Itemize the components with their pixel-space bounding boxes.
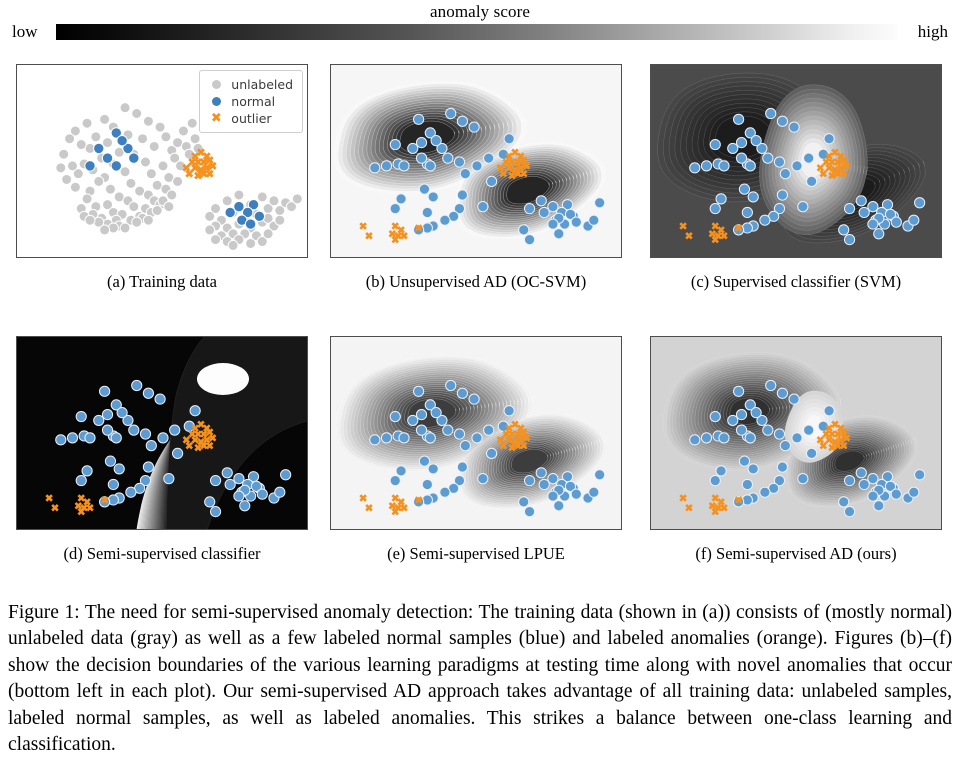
panel-c-plot [651, 65, 941, 257]
panel-b-contours [331, 65, 621, 257]
data-point [143, 388, 153, 398]
data-point [399, 433, 409, 443]
data-point [422, 479, 432, 489]
data-point [739, 456, 749, 466]
data-point [431, 408, 441, 418]
data-point [263, 229, 273, 239]
data-point [469, 122, 479, 132]
data-point [103, 138, 113, 148]
data-point [874, 501, 884, 511]
data-point [789, 394, 799, 404]
data-point [909, 215, 919, 225]
data-point [187, 118, 197, 128]
data-point [728, 143, 738, 153]
data-point [595, 470, 605, 480]
data-point [390, 475, 400, 485]
data-point [152, 206, 162, 216]
data-point [839, 225, 849, 235]
data-point [457, 388, 467, 398]
data-point [170, 425, 180, 435]
data-point [780, 169, 790, 179]
data-point [100, 386, 110, 396]
data-point [548, 202, 558, 212]
data-point [205, 211, 215, 221]
data-point [748, 464, 758, 474]
data-point [792, 161, 802, 171]
data-point [548, 219, 558, 229]
legend-item-outlier: ✖ outlier [207, 110, 293, 127]
data-point [234, 474, 244, 484]
colorbar: anomaly score low high [0, 0, 960, 52]
data-point [428, 464, 438, 474]
data-point [469, 394, 479, 404]
data-point [868, 474, 878, 484]
data-point [222, 196, 232, 206]
colorbar-low-label: low [12, 22, 38, 42]
data-point [390, 203, 400, 213]
hotspot [197, 363, 249, 395]
panel-d-semi-supervised-classifier [16, 336, 308, 530]
data-point [190, 134, 200, 144]
data-point [228, 240, 238, 250]
data-point [132, 380, 142, 390]
data-point [100, 225, 110, 235]
data-point [844, 235, 854, 245]
data-point [710, 203, 720, 213]
data-point [472, 161, 482, 171]
data-point [381, 433, 391, 443]
data-point [742, 479, 752, 489]
data-point [548, 474, 558, 484]
data-point [396, 194, 406, 204]
data-point [425, 433, 435, 443]
data-point [94, 176, 104, 186]
data-point [539, 479, 549, 489]
data-point [117, 408, 127, 418]
data-point [844, 507, 854, 517]
data-point [390, 139, 400, 149]
data-point [504, 134, 514, 144]
data-point [129, 425, 139, 435]
data-point [56, 163, 66, 173]
data-point [774, 429, 784, 439]
data-point [105, 456, 115, 466]
data-point [710, 411, 720, 421]
panel-c-contours [651, 65, 941, 257]
data-point [82, 466, 92, 476]
data-point [269, 196, 279, 206]
colorbar-gradient [56, 24, 897, 40]
data-point [446, 108, 456, 118]
data-point [484, 425, 494, 435]
data-point [524, 475, 534, 485]
data-point [774, 157, 784, 167]
data-point [164, 202, 174, 212]
data-point [734, 114, 744, 124]
data-point [798, 474, 808, 484]
data-point [114, 464, 124, 474]
data-point [792, 433, 802, 443]
data-point [143, 116, 153, 126]
data-point [246, 238, 256, 248]
data-point [381, 161, 391, 171]
data-point [370, 163, 380, 173]
data-point [777, 190, 787, 200]
data-point [487, 448, 497, 458]
data-point [478, 202, 488, 212]
data-point [589, 487, 599, 497]
panel-d-plot [17, 337, 307, 529]
data-point [416, 425, 426, 435]
data-point [780, 441, 790, 451]
panel-d-contours [17, 337, 307, 529]
data-point [292, 194, 302, 204]
data-point [524, 507, 534, 517]
data-point [856, 196, 866, 206]
data-point [102, 425, 112, 435]
data-point [478, 474, 488, 484]
legend-item-normal: normal [207, 93, 293, 110]
panel-b-unsupervised-ad [330, 64, 622, 258]
data-point [257, 192, 267, 202]
data-point [536, 196, 546, 206]
data-point [146, 441, 156, 451]
data-point [102, 410, 112, 420]
data-point [419, 456, 429, 466]
data-point [408, 143, 418, 153]
legend: unlabeled normal ✖ outlier [199, 70, 303, 133]
data-point [275, 487, 285, 497]
panel-a-caption: (a) Training data [16, 272, 308, 292]
data-point [856, 468, 866, 478]
data-point [807, 448, 817, 458]
data-point [155, 122, 165, 132]
data-point [859, 207, 869, 217]
data-point [766, 380, 776, 390]
data-point [94, 143, 104, 153]
data-point [120, 223, 130, 233]
data-point [472, 433, 482, 443]
data-point [777, 116, 787, 126]
data-point [804, 425, 814, 435]
data-point [766, 108, 776, 118]
data-point [571, 489, 581, 499]
data-point [763, 153, 773, 163]
data-point [454, 429, 464, 439]
panel-e-plot [331, 337, 621, 529]
data-point [178, 126, 188, 136]
data-point [132, 109, 142, 119]
data-point [763, 425, 773, 435]
data-point [120, 103, 130, 113]
data-point [225, 479, 235, 489]
data-point [457, 116, 467, 126]
data-point [739, 184, 749, 194]
data-point [419, 184, 429, 194]
data-point [751, 136, 761, 146]
data-point [70, 182, 80, 192]
data-point [824, 406, 834, 416]
data-point [736, 138, 746, 148]
data-point [719, 161, 729, 171]
data-point [146, 169, 156, 179]
data-point [487, 176, 497, 186]
outlier-cross-icon: ✖ [207, 111, 225, 126]
data-point [94, 415, 104, 425]
data-point [210, 507, 220, 517]
unlabeled-dot-icon [207, 76, 225, 94]
data-point [399, 161, 409, 171]
data-point [431, 136, 441, 146]
data-point [751, 408, 761, 418]
data-point [111, 161, 121, 171]
data-point [440, 215, 450, 225]
data-point [173, 448, 183, 458]
data-point [222, 468, 232, 478]
data-point [839, 497, 849, 507]
data-point [422, 207, 432, 217]
data-point [76, 140, 86, 150]
data-point [454, 157, 464, 167]
data-point [484, 153, 494, 163]
panel-b-caption: (b) Unsupervised AD (OC-SVM) [330, 272, 622, 292]
data-point [85, 161, 95, 171]
data-point [798, 202, 808, 212]
data-point [82, 118, 92, 128]
data-point [734, 386, 744, 396]
data-point [710, 475, 720, 485]
data-point [554, 501, 564, 511]
data-point [408, 415, 418, 425]
data-point [257, 489, 267, 499]
data-point [748, 192, 758, 202]
data-point [443, 425, 453, 435]
data-point [874, 229, 884, 239]
data-point [132, 217, 142, 227]
data-point [62, 174, 72, 184]
panel-c-supervised-classifier [650, 64, 942, 258]
data-point [234, 190, 244, 200]
colorbar-title: anomaly score [0, 2, 960, 22]
data-point [275, 215, 285, 225]
data-point [745, 433, 755, 443]
data-point [85, 433, 95, 443]
data-point [164, 474, 174, 484]
panel-d-caption: (d) Semi-supervised classifier [16, 544, 308, 564]
data-point [56, 435, 66, 445]
data-point [595, 198, 605, 208]
data-point [59, 149, 69, 159]
data-point [205, 225, 215, 235]
data-point [414, 386, 424, 396]
data-point [234, 491, 244, 501]
data-point [76, 475, 86, 485]
data-point [140, 157, 150, 167]
panel-f-caption: (f) Semi-supervised AD (ours) [650, 544, 942, 564]
data-point [745, 161, 755, 171]
data-point [129, 153, 139, 163]
data-point [416, 410, 426, 420]
figure-caption: Figure 1: The need for semi-supervised a… [8, 600, 952, 758]
data-point [891, 489, 901, 499]
data-point [716, 466, 726, 476]
figure-container: anomaly score low high unlabeled normal … [0, 0, 960, 760]
data-point [519, 497, 529, 507]
data-point [844, 203, 854, 213]
data-point [446, 380, 456, 390]
data-point [701, 161, 711, 171]
data-point [504, 406, 514, 416]
data-point [138, 134, 148, 144]
data-point [67, 161, 77, 171]
data-point [414, 114, 424, 124]
data-point [240, 501, 250, 511]
data-point [736, 410, 746, 420]
data-point [65, 134, 75, 144]
data-point [777, 462, 787, 472]
data-point [120, 167, 130, 177]
panel-e-contours [331, 337, 621, 529]
data-point [539, 207, 549, 217]
data-point [824, 134, 834, 144]
data-point [742, 207, 752, 217]
data-point [102, 153, 112, 163]
data-point [519, 225, 529, 235]
legend-label-normal: normal [231, 94, 275, 109]
data-point [524, 235, 534, 245]
data-point [158, 433, 168, 443]
data-point [108, 479, 118, 489]
data-point [161, 132, 171, 142]
data-point [149, 141, 159, 151]
data-point [571, 217, 581, 227]
data-point [868, 491, 878, 501]
data-point [100, 114, 110, 124]
data-point [736, 425, 746, 435]
data-point [589, 215, 599, 225]
data-point [67, 433, 77, 443]
data-point [173, 176, 183, 186]
legend-item-unlabeled: unlabeled [207, 76, 293, 93]
panel-e-caption: (e) Semi-supervised LPUE [330, 544, 622, 564]
panel-b-plot [331, 65, 621, 257]
panel-e-semi-supervised-lpue [330, 336, 622, 530]
colorbar-high-label: high [918, 22, 948, 42]
data-point [844, 475, 854, 485]
data-point [859, 479, 869, 489]
data-point [167, 190, 177, 200]
data-point [443, 153, 453, 163]
data-point [789, 122, 799, 132]
legend-label-outlier: outlier [231, 111, 271, 126]
data-point [915, 198, 925, 208]
data-point [281, 470, 291, 480]
data-point [777, 388, 787, 398]
data-point [129, 202, 139, 212]
data-point [76, 411, 86, 421]
data-point [440, 487, 450, 497]
data-point [370, 435, 380, 445]
data-point [425, 161, 435, 171]
data-point [117, 135, 127, 145]
data-point [254, 211, 264, 221]
data-point [158, 161, 168, 171]
data-point [416, 138, 426, 148]
data-point [210, 475, 220, 485]
data-point [457, 190, 467, 200]
data-point [457, 462, 467, 472]
data-point [736, 153, 746, 163]
data-point [155, 394, 165, 404]
data-point [760, 487, 770, 497]
data-point [554, 229, 564, 239]
data-point [804, 153, 814, 163]
data-point [143, 215, 153, 225]
data-point [915, 470, 925, 480]
data-point [710, 139, 720, 149]
data-point [891, 217, 901, 227]
data-point [245, 219, 255, 229]
data-point [91, 132, 101, 142]
legend-label-unlabeled: unlabeled [231, 77, 293, 92]
data-point [868, 219, 878, 229]
panel-c-caption: (c) Supervised classifier (SVM) [650, 272, 942, 292]
data-point [416, 153, 426, 163]
panel-f-semi-supervised-ad [650, 336, 942, 530]
data-point [716, 194, 726, 204]
data-point [701, 433, 711, 443]
data-point [719, 433, 729, 443]
data-point [760, 215, 770, 225]
data-point [524, 203, 534, 213]
data-point [460, 169, 470, 179]
data-point [396, 466, 406, 476]
data-point [909, 487, 919, 497]
data-point [205, 497, 215, 507]
data-point [807, 176, 817, 186]
data-point [143, 462, 153, 472]
data-point [548, 491, 558, 501]
panel-a-training-data: unlabeled normal ✖ outlier [16, 64, 308, 258]
normal-dot-icon [207, 93, 225, 111]
data-point [728, 415, 738, 425]
panel-f-contours [651, 337, 941, 529]
data-point [690, 435, 700, 445]
panel-f-plot [651, 337, 941, 529]
data-point [690, 163, 700, 173]
data-point [140, 429, 150, 439]
data-point [126, 487, 136, 497]
data-point [111, 433, 121, 443]
data-point [390, 411, 400, 421]
data-point [126, 178, 136, 188]
data-point [211, 235, 221, 245]
data-point [82, 194, 92, 204]
data-point [868, 202, 878, 212]
data-point [105, 184, 115, 194]
data-point [85, 215, 95, 225]
data-point [428, 192, 438, 202]
data-point [225, 207, 235, 217]
data-point [536, 468, 546, 478]
data-point [460, 441, 470, 451]
data-point [190, 406, 200, 416]
